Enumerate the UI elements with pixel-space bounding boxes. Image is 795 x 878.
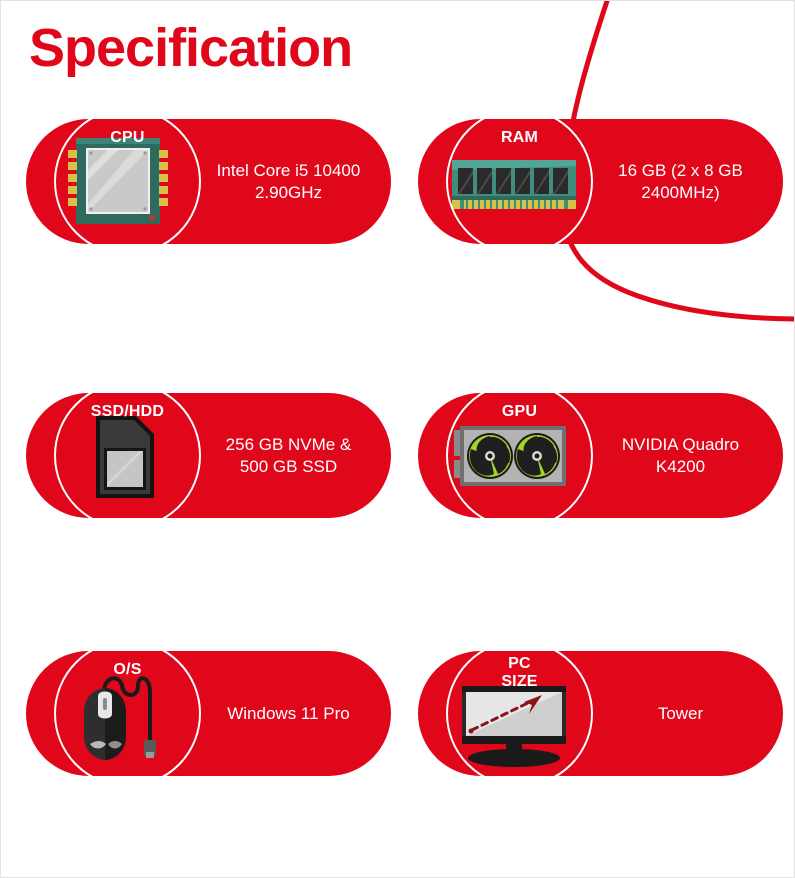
card-value-cpu: Intel Core i5 104002.90GHz (186, 119, 391, 244)
spec-card-storage: SSD/HDD 256 GB NVMe &500 GB SSD (26, 393, 391, 518)
card-label-gpu: GPU (446, 403, 593, 421)
card-value-gpu: NVIDIA QuadroK4200 (578, 393, 783, 518)
card-label-ram: RAM (446, 129, 593, 147)
card-value-pc-size: Tower (578, 651, 783, 776)
card-label-os: O/S (54, 661, 201, 679)
card-label-storage: SSD/HDD (54, 403, 201, 421)
card-label-cpu: CPU (54, 129, 201, 147)
spec-card-cpu: CPU Intel Core i5 104002.90GHz (26, 119, 391, 244)
card-value-os: Windows 11 Pro (186, 651, 391, 776)
spec-card-pc-size: PCSIZE Tower (418, 651, 783, 776)
page-title: Specification (29, 17, 352, 79)
spec-card-ram: RAM 16 GB (2 x 8 GB2400MHz) (418, 119, 783, 244)
card-value-storage: 256 GB NVMe &500 GB SSD (186, 393, 391, 518)
card-label-pc-size: PCSIZE (446, 655, 593, 691)
spec-card-grid: CPU Intel Core i5 104002.90GHz (1, 1, 795, 878)
spec-card-os: O/S Windows 11 Pro (26, 651, 391, 776)
card-value-ram: 16 GB (2 x 8 GB2400MHz) (578, 119, 783, 244)
specification-sheet: Specification (0, 0, 795, 878)
spec-card-gpu: GPU NVIDIA QuadroK4200 (418, 393, 783, 518)
